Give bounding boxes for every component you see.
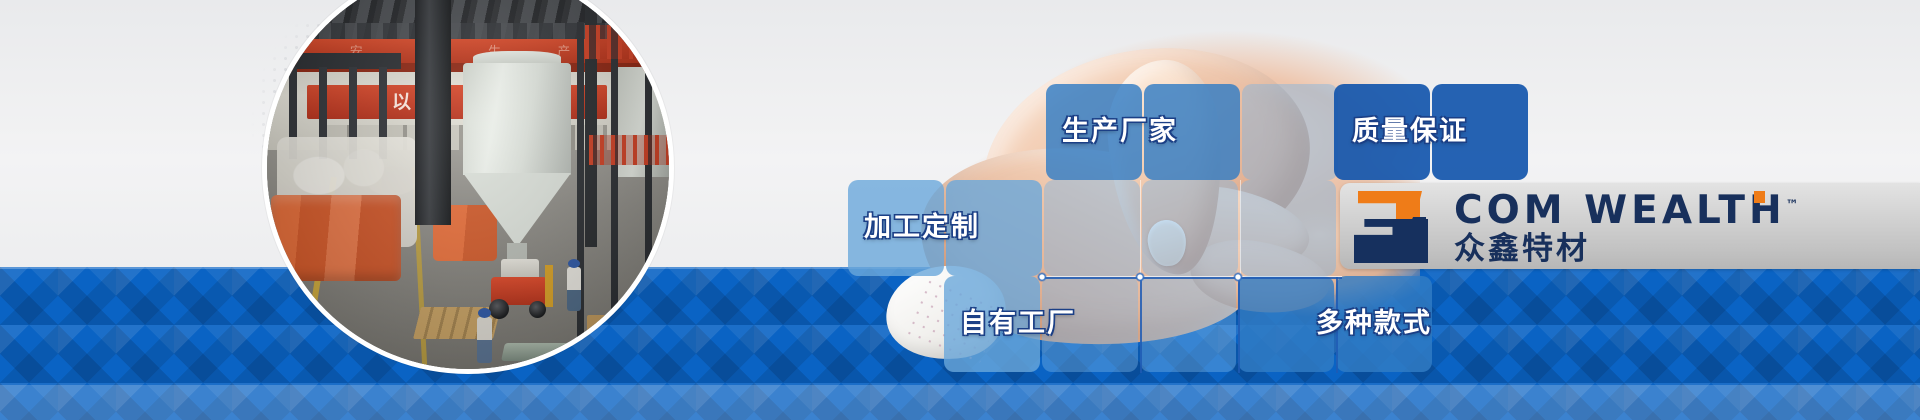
tile-label-custom-processing: 加工定制: [864, 180, 980, 276]
tile-row2-glass-a[interactable]: [1044, 180, 1140, 276]
brand-name-chinese: 众鑫特材: [1454, 232, 1799, 266]
com-wealth-mark-icon: [1352, 189, 1444, 263]
brand-name-english: COM WEALTH™: [1454, 186, 1799, 231]
tile-row3-glass-b[interactable]: [1140, 276, 1236, 372]
tile-label-own-factory: 自有工厂: [960, 276, 1076, 372]
tile-row2-glass-c[interactable]: [1240, 180, 1336, 276]
trademark-symbol: ™: [1786, 198, 1799, 213]
logo-orange-accent: [1754, 191, 1765, 203]
tile-row2-glass-b[interactable]: [1142, 180, 1238, 276]
brand-logo-bar[interactable]: COM WEALTH™ 众鑫特材: [1340, 183, 1920, 269]
tile-label-many-styles: 多种款式: [1316, 276, 1432, 372]
tile-label-manufacturer: 生产厂家: [1062, 84, 1178, 180]
tile-label-quality-guarantee: 质量保证: [1352, 84, 1468, 180]
brand-name-english-text: COM WEALTH: [1454, 188, 1786, 233]
tile-row1-glass[interactable]: [1242, 84, 1338, 180]
promo-banner: 安 全 生 产 以精立业: [0, 0, 1920, 420]
